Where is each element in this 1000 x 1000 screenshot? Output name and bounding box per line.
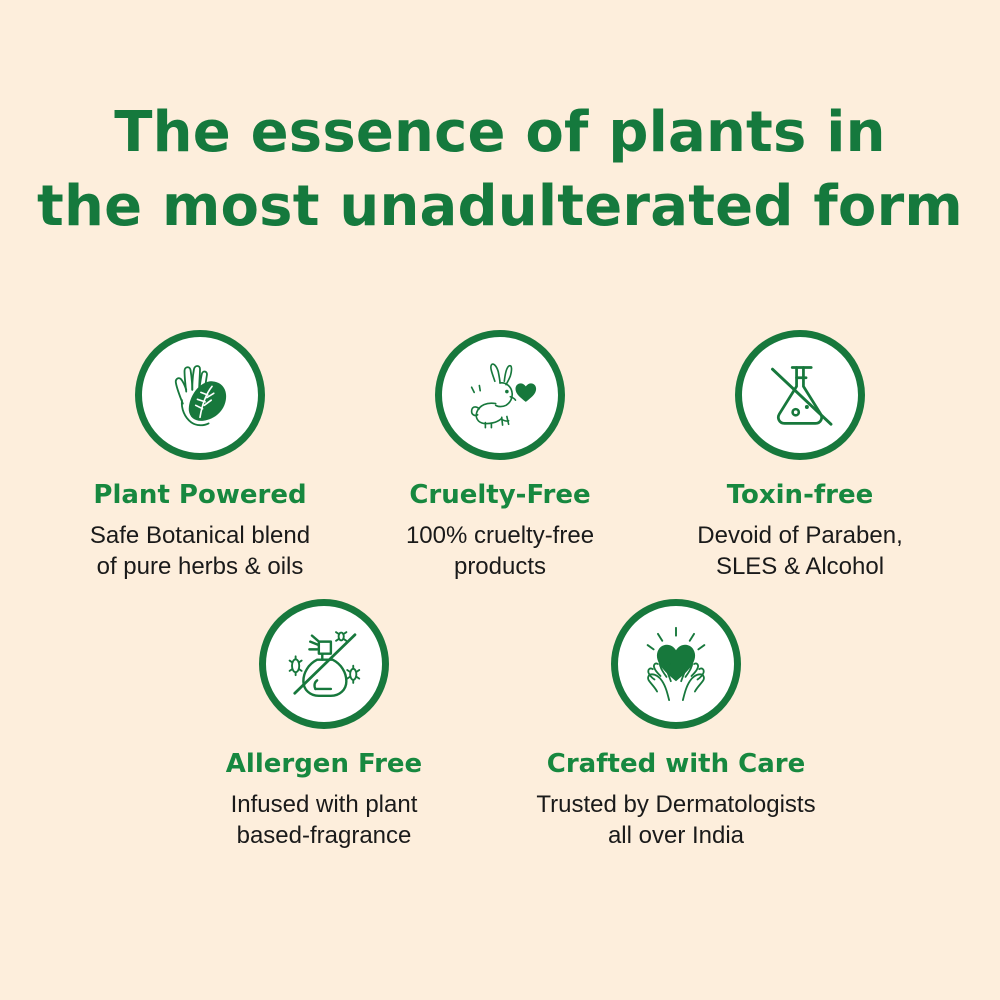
feature-description: Safe Botanical blend of pure herbs & oil… xyxy=(90,520,310,582)
feature-description-line-1: Infused with plant xyxy=(231,789,418,820)
feature-allergen-free: Allergen Free Infused with plant based-f… xyxy=(148,599,500,851)
feature-crafted-with-care: Crafted with Care Trusted by Dermatologi… xyxy=(500,599,852,851)
feature-description-line-2: SLES & Alcohol xyxy=(697,551,902,582)
feature-row-2: Allergen Free Infused with plant based-f… xyxy=(0,599,1000,851)
feature-description: Devoid of Paraben, SLES & Alcohol xyxy=(697,520,902,582)
icon-badge-crafted-with-care xyxy=(611,599,741,729)
feature-description-line-1: Safe Botanical blend xyxy=(90,520,310,551)
feature-description-line-1: 100% cruelty-free xyxy=(406,520,594,551)
feature-grid: Plant Powered Safe Botanical blend of pu… xyxy=(0,330,1000,852)
hands-heart-icon xyxy=(633,621,719,707)
feature-description-line-2: of pure herbs & oils xyxy=(90,551,310,582)
icon-badge-allergen-free xyxy=(259,599,389,729)
benefits-banner: The essence of plants in the most unadul… xyxy=(0,0,1000,1000)
page-title-line-1: The essence of plants in xyxy=(0,96,1000,170)
feature-toxin-free: Toxin-free Devoid of Paraben, SLES & Alc… xyxy=(650,330,950,582)
feature-title: Plant Powered xyxy=(93,481,306,511)
page-title-line-2: the most unadulterated form xyxy=(0,170,1000,244)
feature-description-line-2: all over India xyxy=(536,820,815,851)
feature-title: Allergen Free xyxy=(226,750,422,780)
icon-badge-plant-powered xyxy=(135,330,265,460)
feature-description: Infused with plant based-fragrance xyxy=(231,789,418,851)
feature-description-line-1: Devoid of Paraben, xyxy=(697,520,902,551)
feature-row-1: Plant Powered Safe Botanical blend of pu… xyxy=(0,330,1000,582)
feature-title: Toxin-free xyxy=(727,481,874,511)
feature-title: Crafted with Care xyxy=(547,750,806,780)
flask-no-toxin-icon xyxy=(757,352,843,438)
feature-description-line-2: based-fragrance xyxy=(231,820,418,851)
icon-badge-cruelty-free xyxy=(435,330,565,460)
feature-description: 100% cruelty-free products xyxy=(406,520,594,582)
feature-title: Cruelty-Free xyxy=(409,481,590,511)
feature-description: Trusted by Dermatologists all over India xyxy=(536,789,815,851)
feature-description-line-2: products xyxy=(406,551,594,582)
feature-description-line-1: Trusted by Dermatologists xyxy=(536,789,815,820)
spray-bottle-no-allergen-icon xyxy=(281,621,367,707)
page-title: The essence of plants in the most unadul… xyxy=(0,96,1000,244)
rabbit-heart-icon xyxy=(457,352,543,438)
feature-plant-powered: Plant Powered Safe Botanical blend of pu… xyxy=(50,330,350,582)
hand-leaf-icon xyxy=(157,352,243,438)
icon-badge-toxin-free xyxy=(735,330,865,460)
feature-cruelty-free: Cruelty-Free 100% cruelty-free products xyxy=(350,330,650,582)
